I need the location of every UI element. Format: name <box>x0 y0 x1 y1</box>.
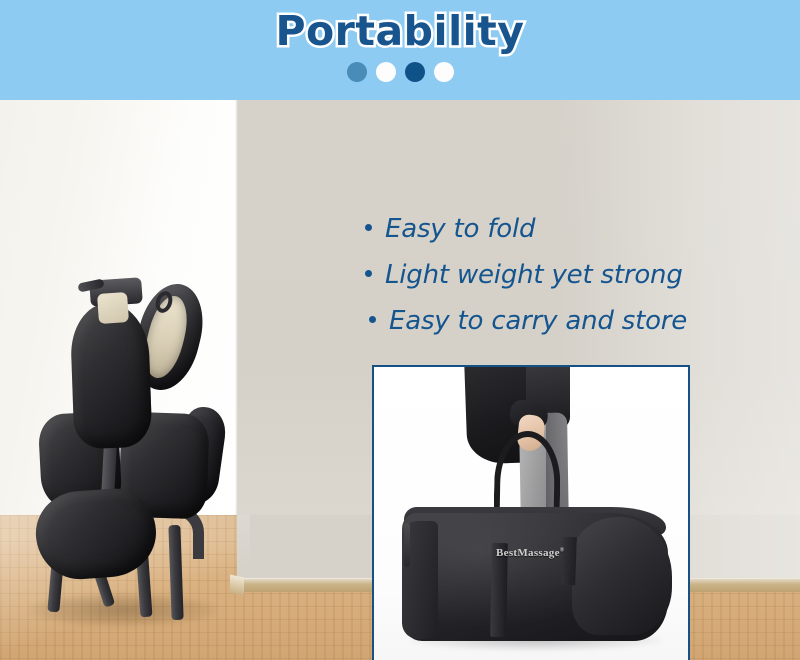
registered-trademark-icon: ® <box>560 547 565 553</box>
feature-item-3: Easy to carry and store <box>365 304 785 338</box>
chair-chest-pad <box>69 302 152 450</box>
feature-item-1: Easy to fold <box>365 212 785 246</box>
slide-root: Portability <box>0 0 800 660</box>
dot-indicator-group <box>0 62 800 82</box>
dot-indicator-4 <box>434 62 454 82</box>
room-scene: Easy to fold Light weight yet strong Eas… <box>0 100 800 660</box>
folded-massage-chair <box>20 195 250 615</box>
feature-label-2: Light weight yet strong <box>385 258 683 292</box>
bag-zipper <box>404 523 410 567</box>
dot-indicator-2 <box>376 62 396 82</box>
header-banner: Portability <box>0 0 800 100</box>
dot-indicator-3 <box>405 62 425 82</box>
page-title: Portability <box>0 5 800 57</box>
feature-list: Easy to fold Light weight yet strong Eas… <box>365 212 785 350</box>
feature-label-3: Easy to carry and store <box>389 304 687 338</box>
dot-indicator-1 <box>347 62 367 82</box>
bullet-dot-icon <box>365 224 372 231</box>
bag-brand-name: BestMassage <box>496 547 560 559</box>
product-photo: BestMassage® <box>374 367 688 660</box>
feature-item-2: Light weight yet strong <box>365 258 785 292</box>
bullet-dot-icon <box>365 270 372 277</box>
bag-brand-logo: BestMassage® <box>496 547 565 559</box>
product-photo-frame: BestMassage® <box>372 365 690 660</box>
bag-right-end <box>572 517 672 635</box>
bullet-dot-icon <box>369 316 376 323</box>
bag-strap-right <box>561 537 577 585</box>
feature-label-1: Easy to fold <box>385 212 535 246</box>
chair-adjuster-block <box>97 292 129 324</box>
